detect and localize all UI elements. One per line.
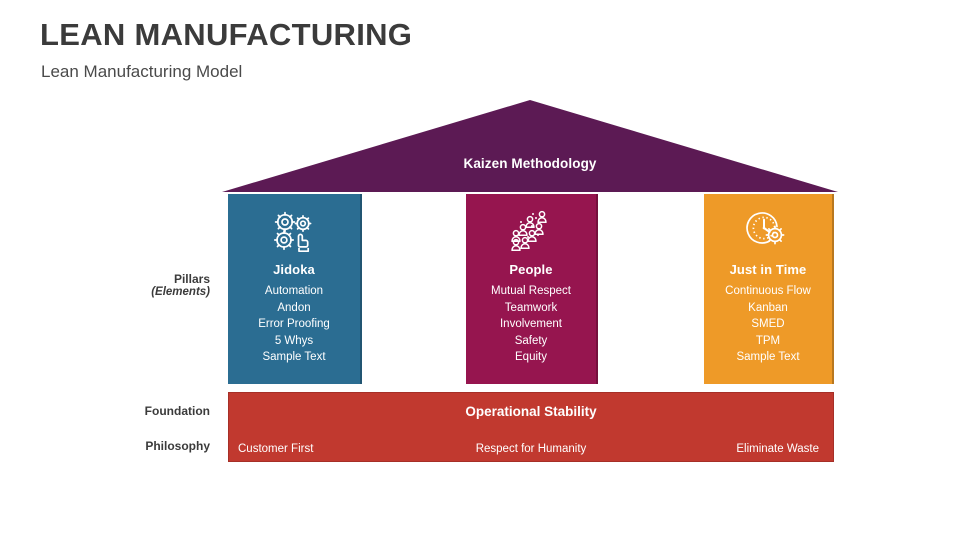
page-subtitle: Lean Manufacturing Model <box>41 62 242 82</box>
pillar-item: Mutual Respect <box>491 283 571 300</box>
pillar-item: Kanban <box>725 300 811 317</box>
pillar-item: Equity <box>491 349 571 366</box>
gears-hand-icon <box>271 208 317 256</box>
pillar-items: Mutual Respect Teamwork Involvement Safe… <box>491 283 571 366</box>
pillar-item: Andon <box>258 300 330 317</box>
pillar-title: Just in Time <box>730 262 807 277</box>
philosophy-item: Respect for Humanity <box>476 443 587 455</box>
pillar-item: Error Proofing <box>258 316 330 333</box>
row-label-pillars-sub: (Elements) <box>50 286 210 298</box>
row-label-philosophy: Philosophy <box>50 439 210 453</box>
pillar-item: Safety <box>491 333 571 350</box>
pillar-item: 5 Whys <box>258 333 330 350</box>
foundation-block[interactable]: Operational Stability Customer First Res… <box>228 392 834 462</box>
philosophy-item: Eliminate Waste <box>736 443 819 455</box>
pillar-item: Teamwork <box>491 300 571 317</box>
row-label-foundation: Foundation <box>50 404 210 418</box>
pillar-item: Sample Text <box>258 349 330 366</box>
row-label-pillars-text: Pillars <box>174 272 210 286</box>
row-label-pillars: Pillars (Elements) <box>50 272 210 298</box>
pillar-items: Automation Andon Error Proofing 5 Whys S… <box>258 283 330 366</box>
philosophy-row: Customer First Respect for Humanity Elim… <box>229 438 833 460</box>
pillar-item: Involvement <box>491 316 571 333</box>
roof-label: Kaizen Methodology <box>220 98 840 194</box>
foundation-title: Operational Stability <box>229 404 833 419</box>
page-title: LEAN MANUFACTURING <box>40 17 412 53</box>
pillar-item: Automation <box>258 283 330 300</box>
pillar-title: Jidoka <box>273 262 315 277</box>
pillar-just-in-time[interactable]: Just in Time Continuous Flow Kanban SMED… <box>704 194 834 384</box>
pillar-people[interactable]: People Mutual Respect Teamwork Involveme… <box>466 194 598 384</box>
roof-shape: Kaizen Methodology <box>220 98 840 194</box>
pillar-item: TPM <box>725 333 811 350</box>
pillar-items: Continuous Flow Kanban SMED TPM Sample T… <box>725 283 811 366</box>
pillar-title: People <box>509 262 552 277</box>
people-network-icon <box>508 208 554 256</box>
pillar-item: Continuous Flow <box>725 283 811 300</box>
lean-manufacturing-slide: LEAN MANUFACTURING Lean Manufacturing Mo… <box>0 0 960 540</box>
pillar-item: Sample Text <box>725 349 811 366</box>
philosophy-item: Customer First <box>238 443 313 455</box>
pillar-jidoka[interactable]: Jidoka Automation Andon Error Proofing 5… <box>228 194 362 384</box>
pillar-item: SMED <box>725 316 811 333</box>
clock-gear-icon <box>745 208 791 256</box>
